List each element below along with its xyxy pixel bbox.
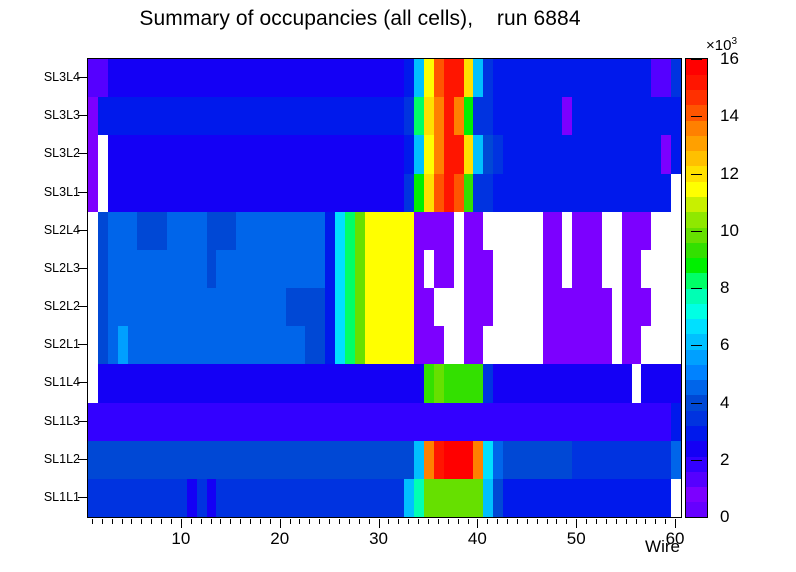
heatmap-cell xyxy=(641,174,651,213)
heatmap-cell xyxy=(562,403,572,442)
x-axis-tick xyxy=(655,519,656,524)
y-axis-tick xyxy=(78,115,87,116)
heatmap-cell xyxy=(394,479,404,518)
heatmap-cell xyxy=(454,174,464,213)
heatmap-cell xyxy=(513,174,523,213)
heatmap-cell xyxy=(197,479,207,518)
heatmap-cell xyxy=(394,326,404,365)
x-axis-tick xyxy=(517,519,518,524)
heatmap-cell xyxy=(473,441,483,480)
heatmap-cell xyxy=(661,135,671,174)
heatmap-cell xyxy=(216,441,226,480)
heatmap-cell xyxy=(365,403,375,442)
heatmap-cell xyxy=(137,135,147,174)
y-axis-tick xyxy=(78,382,87,383)
heatmap-cell xyxy=(137,59,147,98)
y-axis-tick xyxy=(78,459,87,460)
heatmap-cell xyxy=(197,403,207,442)
x-axis-tick xyxy=(280,519,281,528)
heatmap-cell xyxy=(602,403,612,442)
heatmap-cell xyxy=(523,441,533,480)
heatmap-cell xyxy=(197,250,207,289)
heatmap-cell xyxy=(197,135,207,174)
heatmap-cell xyxy=(157,174,167,213)
heatmap-cell xyxy=(523,250,533,289)
heatmap-cell xyxy=(582,288,592,327)
heatmap-cell xyxy=(434,403,444,442)
heatmap-cell xyxy=(414,135,424,174)
heatmap-cell xyxy=(226,364,236,403)
heatmap-cell xyxy=(325,288,335,327)
heatmap-cell xyxy=(671,326,681,365)
heatmap-cell xyxy=(513,364,523,403)
heatmap-cell xyxy=(523,174,533,213)
heatmap-cell xyxy=(543,59,553,98)
heatmap-cell xyxy=(246,326,256,365)
heatmap-cell xyxy=(157,212,167,251)
heatmap-cell xyxy=(375,441,385,480)
colorbar-tick-label-10: 10 xyxy=(720,221,739,241)
x-axis-tick xyxy=(556,519,557,524)
x-axis-tick xyxy=(92,519,93,524)
heatmap-cell xyxy=(394,364,404,403)
heatmap-cell xyxy=(266,59,276,98)
heatmap-cell xyxy=(493,364,503,403)
heatmap-cell xyxy=(622,364,632,403)
heatmap-cell xyxy=(345,364,355,403)
heatmap-cell xyxy=(137,441,147,480)
heatmap-cell xyxy=(622,479,632,518)
heatmap-cell xyxy=(246,135,256,174)
y-axis-tick-label-sl2l4: SL2L4 xyxy=(8,223,80,237)
heatmap-cell xyxy=(414,97,424,136)
heatmap-cell xyxy=(523,479,533,518)
heatmap-cell xyxy=(434,364,444,403)
heatmap-cell xyxy=(671,288,681,327)
heatmap-cell xyxy=(414,59,424,98)
heatmap-cell xyxy=(434,441,444,480)
heatmap-cell xyxy=(602,135,612,174)
heatmap-cell xyxy=(226,174,236,213)
heatmap-cell xyxy=(622,212,632,251)
heatmap-cell xyxy=(365,364,375,403)
heatmap-cell xyxy=(375,135,385,174)
heatmap-cell xyxy=(622,174,632,213)
x-axis-tick xyxy=(379,519,380,528)
x-axis-tick xyxy=(675,519,676,528)
heatmap-cell xyxy=(562,479,572,518)
heatmap-cell xyxy=(246,403,256,442)
heatmap-cells xyxy=(88,59,681,517)
heatmap-cell xyxy=(562,441,572,480)
heatmap-cell xyxy=(286,250,296,289)
heatmap-cell xyxy=(197,326,207,365)
heatmap-cell xyxy=(434,59,444,98)
heatmap-cell xyxy=(641,403,651,442)
heatmap-cell xyxy=(216,97,226,136)
heatmap-cell xyxy=(622,135,632,174)
x-axis-tick xyxy=(270,519,271,524)
heatmap-cell xyxy=(513,97,523,136)
x-axis-tick xyxy=(645,519,646,524)
heatmap-cell xyxy=(582,59,592,98)
heatmap-cell xyxy=(671,135,681,174)
heatmap-cell xyxy=(216,364,226,403)
colorbar-tick xyxy=(691,174,702,175)
heatmap-cell xyxy=(661,97,671,136)
heatmap-cell xyxy=(246,479,256,518)
heatmap-cell xyxy=(582,135,592,174)
heatmap-cell xyxy=(671,403,681,442)
heatmap-cell xyxy=(197,174,207,213)
heatmap-cell xyxy=(375,479,385,518)
heatmap-cell xyxy=(473,135,483,174)
heatmap-cell xyxy=(177,288,187,327)
x-axis-tick xyxy=(299,519,300,524)
x-axis-tick xyxy=(487,519,488,524)
heatmap-cell xyxy=(305,135,315,174)
y-axis-tick xyxy=(78,268,87,269)
heatmap-cell xyxy=(137,97,147,136)
heatmap-cell xyxy=(394,250,404,289)
heatmap-cell xyxy=(197,212,207,251)
heatmap-cell xyxy=(98,212,108,251)
heatmap-cell xyxy=(641,479,651,518)
heatmap-cell xyxy=(118,97,128,136)
heatmap-cell xyxy=(98,174,108,213)
heatmap-cell xyxy=(118,479,128,518)
heatmap-cell xyxy=(394,97,404,136)
heatmap-cell xyxy=(414,364,424,403)
heatmap-cell xyxy=(325,479,335,518)
heatmap-cell xyxy=(543,326,553,365)
heatmap-cell xyxy=(394,441,404,480)
heatmap-cell xyxy=(582,403,592,442)
heatmap-cell xyxy=(602,441,612,480)
heatmap-cell xyxy=(622,326,632,365)
heatmap-cell xyxy=(661,326,671,365)
colorbar-tick xyxy=(691,116,702,117)
y-axis-tick-label-sl1l1: SL1L1 xyxy=(8,490,80,504)
heatmap-cell xyxy=(137,326,147,365)
heatmap-cell xyxy=(473,479,483,518)
heatmap-cell xyxy=(266,479,276,518)
heatmap-cell xyxy=(414,212,424,251)
heatmap-cell xyxy=(157,97,167,136)
x-axis-tick xyxy=(586,519,587,524)
x-axis-tick xyxy=(547,519,548,524)
x-axis-tick xyxy=(112,519,113,524)
heatmap-cell xyxy=(434,174,444,213)
heatmap-cell xyxy=(454,97,464,136)
heatmap-cell xyxy=(375,250,385,289)
x-axis-tick xyxy=(665,519,666,524)
heatmap-cell xyxy=(197,288,207,327)
heatmap-cell xyxy=(345,135,355,174)
heatmap-cell xyxy=(118,441,128,480)
heatmap-cell xyxy=(286,59,296,98)
heatmap-cell xyxy=(197,364,207,403)
x-axis-tick xyxy=(240,519,241,524)
heatmap-cell xyxy=(454,135,464,174)
heatmap-cell xyxy=(582,250,592,289)
heatmap-cell xyxy=(543,441,553,480)
heatmap-cell xyxy=(473,97,483,136)
heatmap-cell xyxy=(226,250,236,289)
heatmap-cell xyxy=(375,326,385,365)
heatmap-cell xyxy=(493,250,503,289)
heatmap-cell xyxy=(345,212,355,251)
heatmap-cell xyxy=(246,59,256,98)
heatmap-cell xyxy=(582,364,592,403)
heatmap-cell xyxy=(661,403,671,442)
colorbar-axis: 0246810121416 xyxy=(685,58,775,518)
heatmap-cell xyxy=(226,479,236,518)
heatmap-cell xyxy=(216,174,226,213)
heatmap-cell xyxy=(602,174,612,213)
heatmap-cell xyxy=(98,326,108,365)
heatmap-cell xyxy=(582,97,592,136)
heatmap-cell xyxy=(414,441,424,480)
x-axis-tick xyxy=(626,519,627,524)
colorbar-tick-label-2: 2 xyxy=(720,450,729,470)
heatmap-cell xyxy=(226,97,236,136)
heatmap-cell xyxy=(345,250,355,289)
heatmap-cell xyxy=(365,326,375,365)
heatmap-cell xyxy=(266,212,276,251)
heatmap-cell xyxy=(641,326,651,365)
heatmap-cell xyxy=(513,326,523,365)
heatmap-cell xyxy=(582,441,592,480)
x-axis-tick xyxy=(220,519,221,524)
heatmap-cell xyxy=(216,288,226,327)
heatmap-cell xyxy=(473,212,483,251)
heatmap-cell xyxy=(602,250,612,289)
heatmap-cell xyxy=(434,97,444,136)
x-axis-tick xyxy=(477,519,478,528)
x-axis-tick xyxy=(458,519,459,524)
heatmap-cell xyxy=(365,250,375,289)
heatmap-cell xyxy=(671,364,681,403)
heatmap-cell xyxy=(602,364,612,403)
colorbar-tick xyxy=(691,403,702,404)
heatmap-cell xyxy=(493,212,503,251)
heatmap-cell xyxy=(394,174,404,213)
heatmap-cell xyxy=(157,441,167,480)
heatmap-cell xyxy=(325,174,335,213)
colorbar-tick-label-6: 6 xyxy=(720,335,729,355)
x-axis-tick xyxy=(388,519,389,524)
heatmap-cell xyxy=(543,403,553,442)
heatmap-cell xyxy=(137,174,147,213)
heatmap-cell xyxy=(562,212,572,251)
x-axis-tick xyxy=(527,519,528,524)
heatmap-cell xyxy=(365,479,375,518)
heatmap-cell xyxy=(543,97,553,136)
x-axis-title: Wire xyxy=(0,537,682,557)
heatmap-cell xyxy=(602,59,612,98)
x-axis-tick xyxy=(230,519,231,524)
heatmap-cell xyxy=(434,212,444,251)
y-axis-labels: SL3L4SL3L3SL3L2SL3L1SL2L4SL2L3SL2L2SL2L1… xyxy=(0,58,80,518)
heatmap-cell xyxy=(622,441,632,480)
heatmap-cell xyxy=(365,135,375,174)
heatmap-cell xyxy=(543,212,553,251)
y-axis-tick-label-sl2l3: SL2L3 xyxy=(8,261,80,275)
colorbar-tick-label-0: 0 xyxy=(720,507,729,527)
heatmap-cell xyxy=(118,59,128,98)
heatmap-cell xyxy=(414,288,424,327)
heatmap-cell xyxy=(226,288,236,327)
colorbar-tick xyxy=(691,231,702,232)
heatmap-cell xyxy=(394,59,404,98)
heatmap-cell xyxy=(216,212,226,251)
x-axis-tick xyxy=(171,519,172,524)
heatmap-cell xyxy=(98,250,108,289)
heatmap-cell xyxy=(177,174,187,213)
heatmap-cell xyxy=(325,59,335,98)
heatmap-cell xyxy=(118,364,128,403)
heatmap-cell xyxy=(157,403,167,442)
heatmap-cell xyxy=(118,135,128,174)
heatmap-cell xyxy=(325,135,335,174)
heatmap-cell xyxy=(365,174,375,213)
colorbar-tick-label-14: 14 xyxy=(720,106,739,126)
heatmap-cell xyxy=(661,364,671,403)
heatmap-cell xyxy=(671,250,681,289)
heatmap-cell xyxy=(513,135,523,174)
heatmap-cell xyxy=(177,212,187,251)
heatmap-cell xyxy=(98,97,108,136)
heatmap-cell xyxy=(246,250,256,289)
heatmap-cell xyxy=(562,326,572,365)
heatmap-cell xyxy=(394,288,404,327)
heatmap-cell xyxy=(118,250,128,289)
heatmap-cell xyxy=(266,250,276,289)
x-axis-tick xyxy=(102,519,103,524)
x-axis-tick xyxy=(191,519,192,524)
heatmap-cell xyxy=(473,326,483,365)
heatmap-cell xyxy=(523,326,533,365)
heatmap-cell xyxy=(246,441,256,480)
y-axis-tick-label-sl3l1: SL3L1 xyxy=(8,185,80,199)
heatmap-cell xyxy=(365,288,375,327)
heatmap-cell xyxy=(286,364,296,403)
heatmap-cell xyxy=(473,250,483,289)
heatmap-cell xyxy=(305,59,315,98)
y-axis-tick xyxy=(78,230,87,231)
heatmap-cell xyxy=(98,364,108,403)
y-axis-tick xyxy=(78,306,87,307)
heatmap-cell xyxy=(216,326,226,365)
heatmap-cell xyxy=(513,403,523,442)
heatmap-cell xyxy=(157,59,167,98)
heatmap-cell xyxy=(641,212,651,251)
heatmap-cell xyxy=(661,479,671,518)
heatmap-cell xyxy=(325,326,335,365)
colorbar-exponent: ×103 xyxy=(706,36,737,54)
heatmap-cell xyxy=(671,441,681,480)
heatmap-cell xyxy=(493,174,503,213)
heatmap-cell xyxy=(246,364,256,403)
heatmap-cell xyxy=(454,479,464,518)
heatmap-cell xyxy=(137,212,147,251)
x-axis-tick xyxy=(448,519,449,524)
heatmap-cell xyxy=(493,135,503,174)
x-axis-tick xyxy=(576,519,577,528)
heatmap-cell xyxy=(375,174,385,213)
heatmap-cell xyxy=(266,326,276,365)
heatmap-cell xyxy=(118,403,128,442)
heatmap-cell xyxy=(513,479,523,518)
heatmap-cell xyxy=(671,479,681,518)
y-axis-tick-label-sl1l3: SL1L3 xyxy=(8,414,80,428)
x-axis-tick xyxy=(141,519,142,524)
heatmap-cell xyxy=(641,97,651,136)
y-axis-tick xyxy=(78,77,87,78)
heatmap-cell xyxy=(118,174,128,213)
y-axis-tick-label-sl3l4: SL3L4 xyxy=(8,70,80,84)
x-axis-tick xyxy=(566,519,567,524)
heatmap-cell xyxy=(98,479,108,518)
heatmap-cell xyxy=(602,326,612,365)
heatmap-cell xyxy=(473,403,483,442)
heatmap-cell xyxy=(622,403,632,442)
heatmap-cell xyxy=(286,326,296,365)
colorbar-tick-label-12: 12 xyxy=(720,164,739,184)
heatmap-cell xyxy=(325,212,335,251)
heatmap-cell xyxy=(157,250,167,289)
x-axis-tick xyxy=(290,519,291,524)
heatmap-cell xyxy=(454,326,464,365)
heatmap-cell xyxy=(454,288,464,327)
x-axis-tick xyxy=(250,519,251,524)
heatmap-cell xyxy=(454,441,464,480)
heatmap-cell xyxy=(157,326,167,365)
heatmap-cell xyxy=(305,403,315,442)
heatmap-cell xyxy=(177,403,187,442)
heatmap-cell xyxy=(562,97,572,136)
heatmap-cell xyxy=(375,97,385,136)
heatmap-cell xyxy=(602,97,612,136)
heatmap-cell xyxy=(562,174,572,213)
heatmap-cell xyxy=(661,288,671,327)
heatmap-cell xyxy=(177,479,187,518)
heatmap-cell xyxy=(226,326,236,365)
y-axis-tick-label-sl1l4: SL1L4 xyxy=(8,375,80,389)
heatmap-cell xyxy=(266,174,276,213)
heatmap-cell xyxy=(671,59,681,98)
colorbar-exponent-base: ×10 xyxy=(706,37,731,54)
heatmap-cell xyxy=(454,250,464,289)
heatmap-cell xyxy=(137,288,147,327)
heatmap-cell xyxy=(246,97,256,136)
x-axis-tick xyxy=(408,519,409,524)
heatmap-cell xyxy=(602,212,612,251)
heatmap-cell xyxy=(622,288,632,327)
heatmap-cell xyxy=(305,479,315,518)
x-axis-tick xyxy=(151,519,152,524)
y-axis-tick xyxy=(78,153,87,154)
heatmap-cell xyxy=(286,135,296,174)
heatmap-cell xyxy=(394,212,404,251)
root-canvas: Summary of occupancies (all cells), run … xyxy=(0,0,796,572)
heatmap-cell xyxy=(365,212,375,251)
heatmap-cell xyxy=(671,212,681,251)
x-axis-tick xyxy=(201,519,202,524)
heatmap-cell xyxy=(473,364,483,403)
heatmap-cell xyxy=(226,403,236,442)
